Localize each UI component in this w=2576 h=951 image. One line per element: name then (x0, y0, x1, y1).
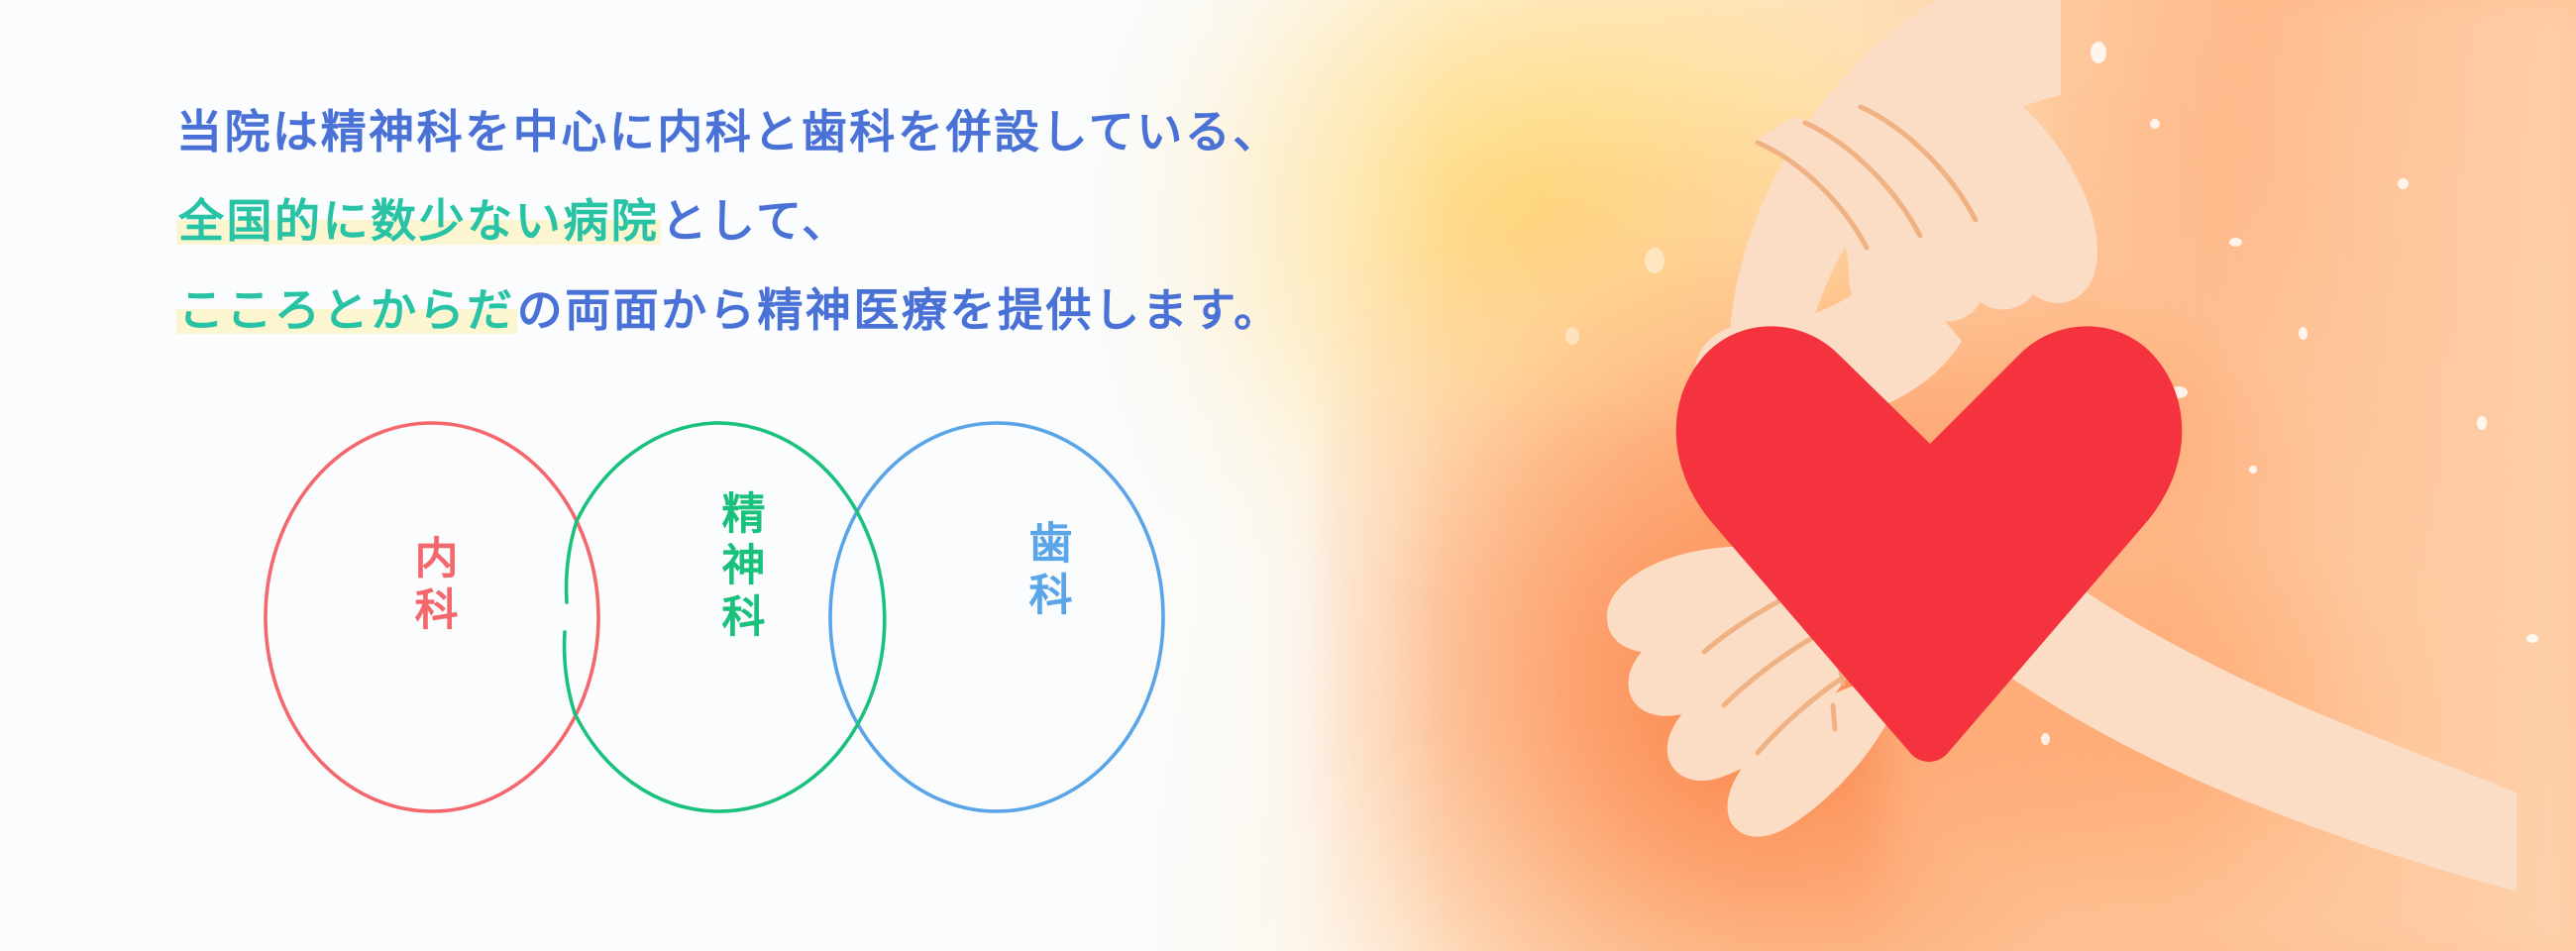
department-label-naika: 内科 (408, 535, 456, 638)
headline-line-2: 全国的に数少ない病院として、 (176, 198, 1583, 244)
headline-line-3-highlight: こころとからだ (176, 284, 517, 336)
department-circles (234, 404, 1304, 830)
headline-line-3-text: の両面から精神医療を提供します。 (517, 284, 1282, 336)
department-label-shika: 歯科 (1022, 520, 1070, 623)
paper-speck (2526, 634, 2538, 643)
headline-line-3: こころとからだの両面から精神医療を提供します。 (176, 287, 1583, 333)
department-label-seishin: 精神科 (715, 490, 763, 645)
hero-banner: 当院は精神科を中心に内科と歯科を併設している、 全国的に数少ない病院として、 こ… (0, 0, 2576, 951)
headline-line-1-text: 当院は精神科を中心に内科と歯科を併設している、 (176, 106, 1281, 158)
headline-line-2-highlight: 全国的に数少ない病院 (176, 195, 661, 247)
headline-copy: 当院は精神科を中心に内科と歯科を併設している、 全国的に数少ない病院として、 こ… (176, 109, 1583, 333)
headline-line-2-text: として、 (661, 195, 849, 247)
circle-shika (830, 423, 1163, 811)
hands-holding-heart-illustration (1546, 0, 2517, 951)
headline-line-1: 当院は精神科を中心に内科と歯科を併設している、 (176, 109, 1583, 155)
